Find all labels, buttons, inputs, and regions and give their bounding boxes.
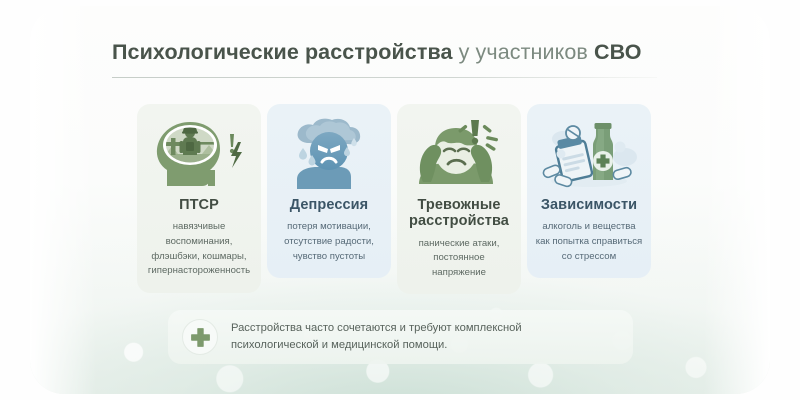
disorder-card-anxiety: Тревожные расстройства панические атаки,… [397, 104, 521, 294]
card-title: ПТСР [144, 197, 254, 213]
card-description: потеря мотивации, отсутствие радости, чу… [274, 220, 384, 264]
summary-note-text: Расстройства часто сочетаются и требуют … [231, 320, 522, 355]
bottle-and-pills-icon [534, 116, 644, 190]
sad-face-rain-cloud-icon [274, 116, 384, 190]
summary-note: Расстройства часто сочетаются и требуют … [168, 310, 633, 364]
header: Психологические расстройства у участнико… [112, 40, 702, 78]
disorder-card-ptsd: ПТСР навязчивые воспоминания, флэшбэки, … [137, 104, 261, 293]
summary-note-line-1: Расстройства часто сочетаются и требуют … [231, 320, 522, 337]
card-description: алкоголь и вещества как попытка справить… [534, 220, 644, 264]
summary-note-line-2: психологической и медицинской помощи. [231, 337, 522, 354]
infographic-root: Психологические расстройства у участнико… [0, 0, 800, 400]
card-title: Зависимости [534, 197, 644, 213]
card-title: Тревожные расстройства [404, 197, 514, 230]
page-title-strong: Психологические расстройства [112, 40, 453, 64]
card-description: навязчивые воспоминания, флэшбэки, кошма… [144, 220, 254, 278]
title-divider [112, 77, 657, 78]
page-title-rest: у участников [453, 40, 595, 64]
card-title: Депрессия [274, 197, 384, 213]
page-title-strong-tail: СВО [594, 40, 642, 64]
page-title: Психологические расстройства у участнико… [112, 40, 702, 66]
medical-cross-icon [182, 319, 218, 355]
disorder-card-addiction: Зависимости алкоголь и вещества как попы… [527, 104, 651, 278]
card-description: панические атаки, постоянное напряжение [404, 237, 514, 281]
disorder-card-list: ПТСР навязчивые воспоминания, флэшбэки, … [137, 104, 663, 294]
head-with-soldier-thought-icon [144, 116, 254, 190]
stressed-person-head-in-hands-icon [404, 116, 514, 190]
disorder-card-depression: Депрессия потеря мотивации, отсутствие р… [267, 104, 391, 278]
